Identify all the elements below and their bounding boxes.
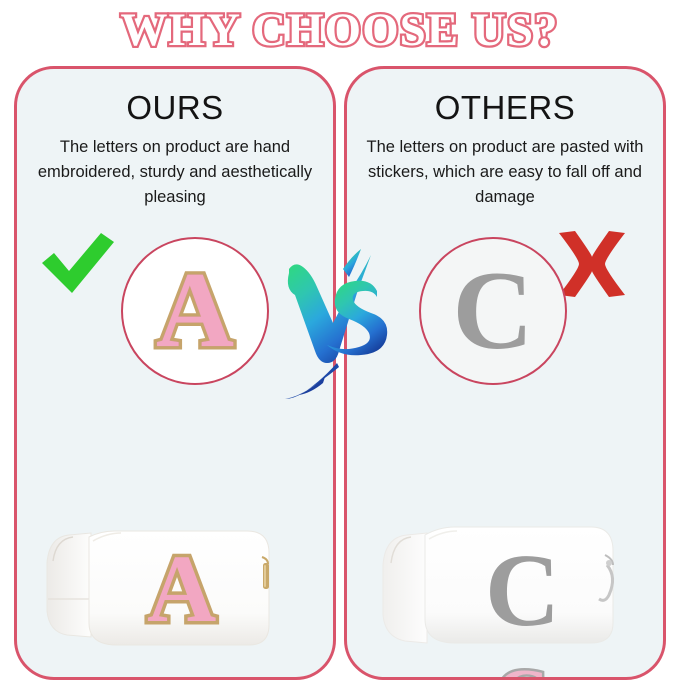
- sticker-letter-c: C: [453, 255, 534, 367]
- panel-ours-body: The letters on product are hand embroide…: [17, 135, 333, 210]
- vs-brush-graphic: [281, 245, 399, 425]
- fallen-patch-c: C: [495, 659, 548, 680]
- medallion-patch-a: A: [121, 237, 269, 385]
- panel-ours-heading: OURS: [17, 89, 333, 127]
- product-sticker-letter-c: C: [485, 533, 560, 648]
- page-title: WHY CHOOSE US?WHY CHOOSE US?: [0, 2, 679, 58]
- product-patch-letter-a: A: [147, 535, 216, 642]
- red-cross-icon: [555, 231, 629, 302]
- panel-others-body: The letters on product are pasted with s…: [347, 135, 663, 210]
- product-pouch-ours: A: [43, 521, 301, 666]
- page-title-inner-stroke: WHY CHOOSE US?: [121, 3, 559, 57]
- page-title-text: WHY CHOOSE US?WHY CHOOSE US?: [121, 3, 559, 57]
- product-pouch-others: C: [377, 521, 645, 666]
- patch-letter-a: A: [156, 257, 234, 365]
- green-check-icon: [39, 231, 117, 302]
- medallion-sticker-c: C: [419, 237, 567, 385]
- fallen-patch-letter-c: C: [495, 655, 548, 680]
- panel-others-heading: OTHERS: [347, 89, 663, 127]
